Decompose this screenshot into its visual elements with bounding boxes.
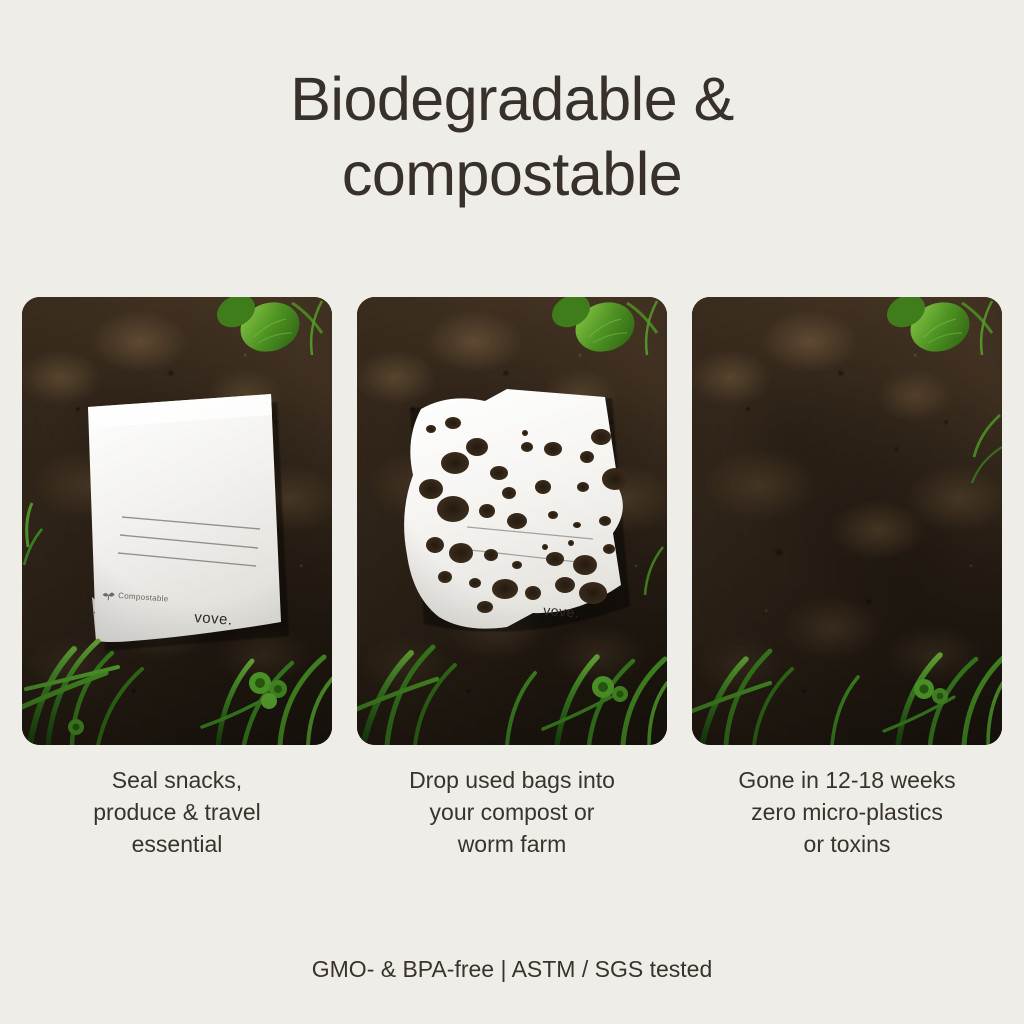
- panel-bare-soil: [692, 297, 1002, 745]
- grass-bottom: [692, 651, 1002, 745]
- page-title-line-2: compostable: [0, 137, 1024, 212]
- caption-line: Drop used bags into: [357, 764, 667, 796]
- caption-line: Seal snacks,: [22, 764, 332, 796]
- caption-line: produce & travel: [22, 796, 332, 828]
- panel-greenery: [22, 297, 332, 745]
- caption-degraded-bag: Drop used bags into your compost or worm…: [357, 764, 667, 860]
- panel-greenery: [692, 297, 1002, 745]
- certification-footer: GMO- & BPA-free | ASTM / SGS tested: [0, 956, 1024, 983]
- panel-intact-bag: Compostable vove.: [22, 297, 332, 745]
- caption-line: your compost or: [357, 796, 667, 828]
- sprout-leaf-icon: [546, 297, 657, 359]
- grass-tuft-left: [24, 503, 42, 565]
- panel-degraded-bag: vove.: [357, 297, 667, 745]
- page-title-line-1: Biodegradable &: [0, 62, 1024, 137]
- page-title: Biodegradable & compostable: [0, 62, 1024, 212]
- caption-line: or toxins: [692, 828, 1002, 860]
- panel-row: Compostable vove.: [22, 297, 1002, 745]
- caption-line: worm farm: [357, 828, 667, 860]
- caption-line: zero micro-plastics: [692, 796, 1002, 828]
- sprout-leaf-icon: [881, 297, 992, 359]
- caption-intact-bag: Seal snacks, produce & travel essential: [22, 764, 332, 860]
- sprout-leaf-icon: [211, 297, 322, 359]
- panel-greenery: [357, 297, 667, 745]
- caption-line: essential: [22, 828, 332, 860]
- caption-row: Seal snacks, produce & travel essential …: [22, 764, 1002, 860]
- fern-curl-icon: [914, 679, 948, 704]
- caption-line: Gone in 12-18 weeks: [692, 764, 1002, 796]
- caption-bare-soil: Gone in 12-18 weeks zero micro-plastics …: [692, 764, 1002, 860]
- fern-curl-icon-2: [68, 719, 84, 735]
